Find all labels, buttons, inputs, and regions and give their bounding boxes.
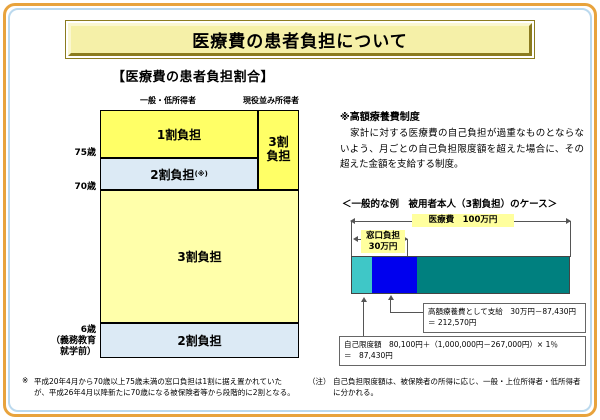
burden-box-2wari-lower-label: 2割負担 — [177, 332, 221, 349]
right-section-heading: ※高額療養費制度 — [340, 108, 420, 123]
window-measure-label-line2: 30万円 — [369, 242, 398, 252]
footnote-right-mark: （注） — [308, 376, 331, 387]
footnote-left-mark: ※ — [22, 376, 28, 385]
total-measure-tick-left — [351, 221, 352, 257]
burden-box-2wari-lower: 2割負担 — [100, 323, 299, 358]
window-measure-arrow-left — [353, 236, 358, 242]
case-title: ＜一般的な例 被用者本人（3割負担）のケース＞ — [342, 196, 557, 210]
burden-box-3wari-active-label-1: 3割 — [268, 136, 288, 150]
footnote-left-text: 平成20年4月から70歳以上75歳未満の窓口負担は1割に据え置かれていたが、平成… — [34, 376, 296, 399]
cost-segment-self-limit — [352, 257, 372, 293]
column-header-general: 一般・低所得者 — [140, 95, 196, 106]
callout-self-limit-line2: ＝ 87,430円 — [344, 351, 393, 360]
callout-self-limit-line1: 自己限度額 80,100円＋（1,000,000円－267,000円）× 1％ — [344, 340, 558, 349]
age-label-70: 70歳 — [36, 182, 96, 192]
page-title: 医療費の患者負担について — [68, 23, 532, 56]
window-measure-label: 窓口負担 30万円 — [361, 230, 405, 253]
age-label-6-note2: 就学前） — [16, 347, 96, 357]
window-measure-tick-right — [407, 239, 408, 257]
age-label-6-note1: （義務教育 — [16, 336, 96, 346]
total-measure-label: 医療費 100万円 — [412, 214, 514, 227]
callout-benefit: 高額療養費として支給 30万円－87,430円＝ 212,570円 — [423, 303, 586, 333]
cost-stacked-bar — [351, 256, 570, 294]
burden-box-1wari: 1割負担 — [100, 110, 258, 158]
burden-box-1wari-label: 1割負担 — [157, 126, 201, 143]
right-body-text: 家計に対する医療費の自己負担が過重なものとならないよう、月ごとの自己負担限度額を… — [340, 126, 584, 173]
cost-segment-reimbursed — [372, 257, 418, 293]
benefit-leader-arrow — [388, 295, 394, 300]
content-area: 医療費の患者負担について 【医療費の患者負担割合】 一般・低所得者 現役並み所得… — [0, 0, 600, 420]
benefit-leader-horizontal — [390, 312, 423, 313]
cost-segment-insurance — [417, 257, 569, 293]
burden-box-3wari-main-label: 3割負担 — [177, 248, 221, 265]
total-measure-tick-right — [570, 221, 571, 257]
right-section-body: 家計に対する医療費の自己負担が過重なものとならないよう、月ごとの自己負担限度額を… — [340, 126, 584, 173]
benefit-leader-vertical — [390, 300, 391, 312]
infographic-page: 医療費の患者負担について 【医療費の患者負担割合】 一般・低所得者 現役並み所得… — [0, 0, 600, 420]
left-section-heading: 【医療費の患者負担割合】 — [112, 66, 274, 85]
burden-box-2wari-note: (※) — [195, 170, 208, 178]
limit-leader-vertical — [363, 302, 364, 336]
age-label-75: 75歳 — [36, 148, 96, 158]
age-label-6: 6歳 — [16, 325, 96, 335]
burden-box-3wari-active: 3割 負担 — [258, 110, 299, 190]
footnote-right-text: 自己負担限度額は、被保険者の所得に応じ、一般・上位所得者・低所得者に分かれる。 — [333, 376, 581, 399]
burden-box-2wari-upper: 2割負担(※) — [100, 158, 258, 190]
burden-box-2wari-upper-label: 2割負担 — [150, 166, 194, 183]
burden-box-3wari-main: 3割負担 — [100, 190, 299, 323]
callout-self-limit: 自己限度額 80,100円＋（1,000,000円－267,000円）× 1％ … — [339, 336, 586, 366]
limit-leader-arrow — [361, 297, 367, 302]
burden-box-3wari-active-label-2: 負担 — [266, 150, 290, 164]
window-measure-label-line1: 窓口負担 — [366, 231, 400, 241]
column-header-active: 現役並み所得者 — [243, 95, 299, 106]
